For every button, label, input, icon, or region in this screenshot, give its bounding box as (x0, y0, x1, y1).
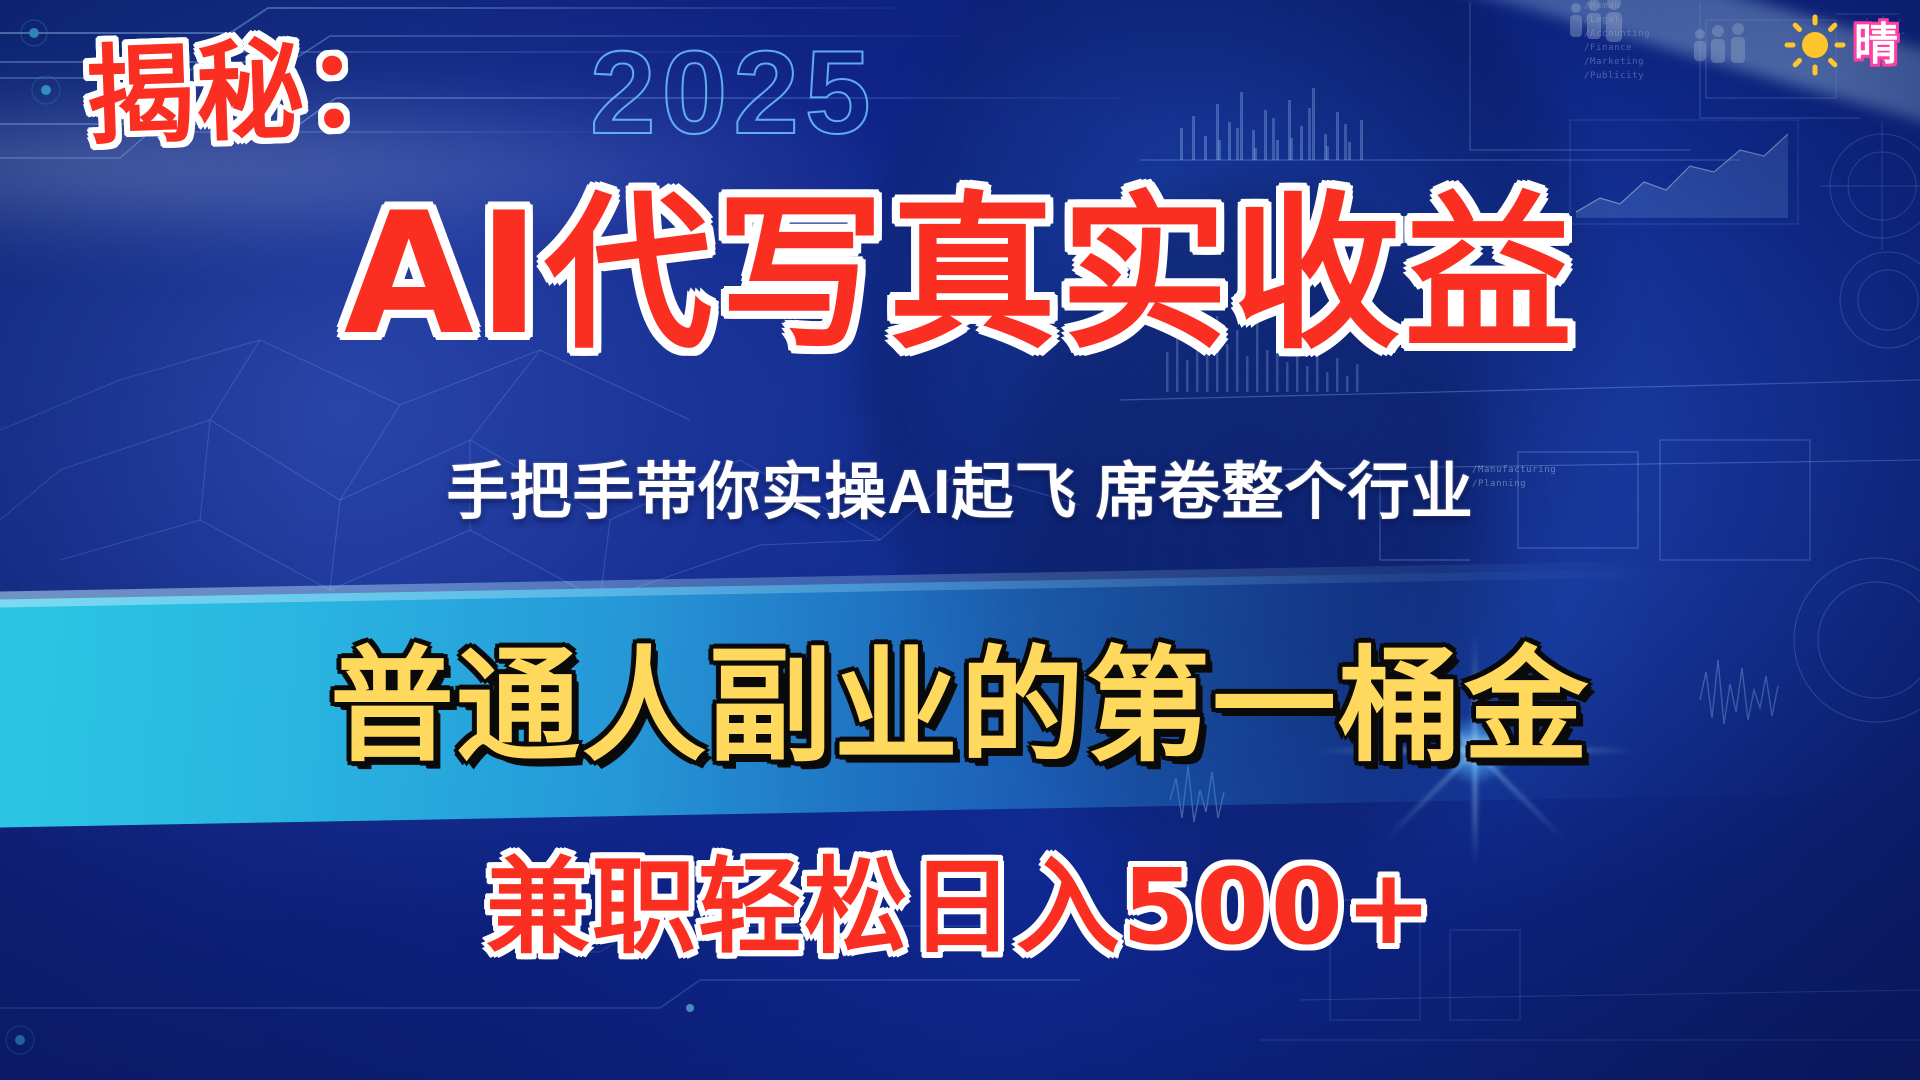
band-headline: 普通人副业的第一桶金 (160, 645, 1760, 769)
weather-label: 晴 (1854, 23, 1898, 67)
subtitle: 手把手带你实操AI起飞 席卷整个行业 (210, 462, 1710, 524)
reveal-label: 揭秘： (84, 30, 418, 155)
main-title: AI代写真实收益 (210, 190, 1710, 358)
year-watermark: 2025 (590, 34, 877, 152)
poster-canvas: /Human /Legal /Accounting /Finance /Mark… (0, 0, 1920, 1080)
weather-badge: 晴 (1784, 14, 1898, 76)
sun-icon (1784, 14, 1846, 76)
bottom-line: 兼职轻松日入500+ (210, 855, 1710, 959)
